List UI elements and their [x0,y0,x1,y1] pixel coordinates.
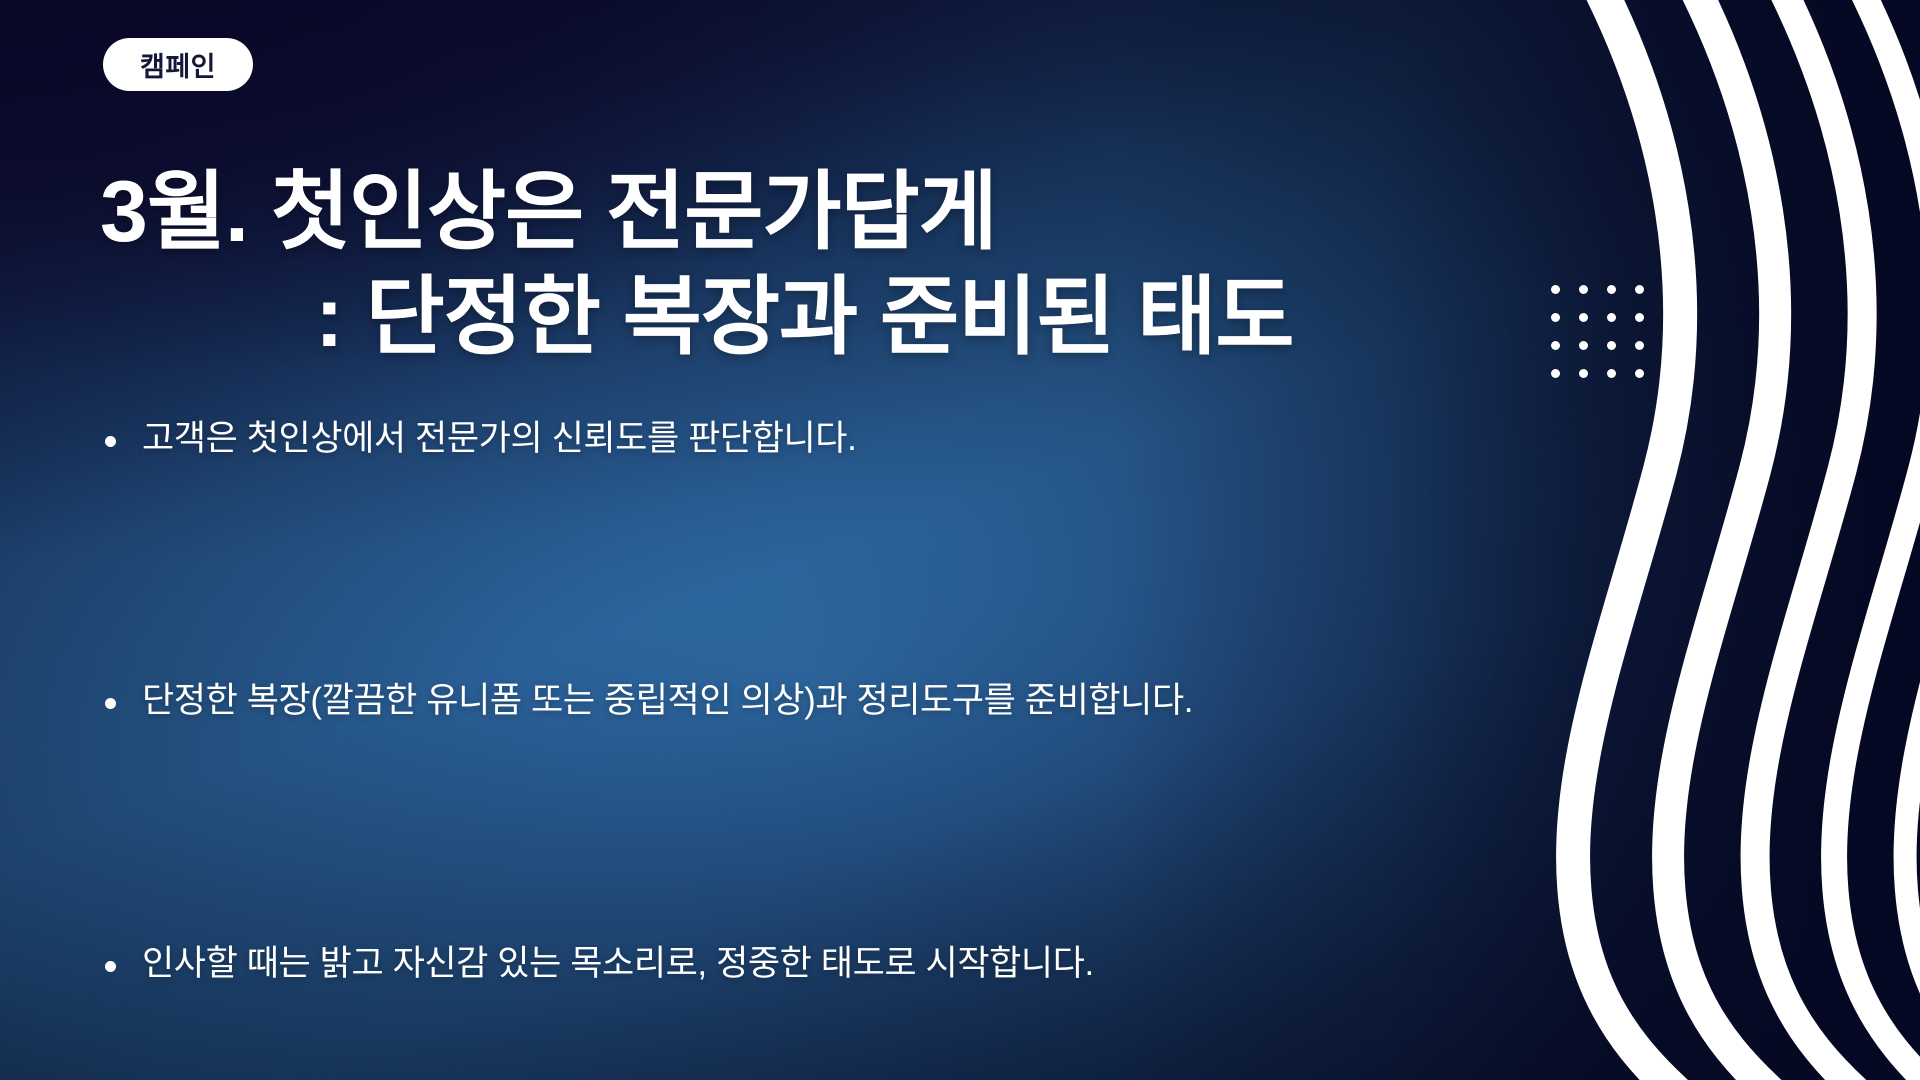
bullet-text: 고객은 첫인상에서 전문가의 신뢰도를 판단합니다. [142,415,1485,462]
list-item: 인사할 때는 밝고 자신감 있는 목소리로, 정중한 태도로 시작합니다. [105,940,1485,987]
grid-dot [1551,313,1560,322]
grid-dot [1635,285,1644,294]
grid-dot [1551,341,1560,350]
grid-dot [1607,369,1616,378]
slide-content: 캠페인 3월. 첫인상은 전문가답게 : 단정한 복장과 준비된 태도 고객은 … [0,0,1520,1080]
campaign-slide: 캠페인 3월. 첫인상은 전문가답게 : 단정한 복장과 준비된 태도 고객은 … [0,0,1920,1080]
bullet-text: 인사할 때는 밝고 자신감 있는 목소리로, 정중한 태도로 시작합니다. [142,940,1485,987]
page-title: 3월. 첫인상은 전문가답게 : 단정한 복장과 준비된 태도 [100,160,1500,370]
list-item: 단정한 복장(깔끔한 유니폼 또는 중립적인 의상)과 정리도구를 준비합니다. [105,677,1485,724]
grid-dot [1635,341,1644,350]
bullet-dot-icon [105,436,116,447]
bullet-text: 단정한 복장(깔끔한 유니폼 또는 중립적인 의상)과 정리도구를 준비합니다. [142,677,1485,724]
grid-dot [1579,285,1588,294]
title-line-1: 3월. 첫인상은 전문가답게 [100,164,997,260]
category-badge: 캠페인 [103,38,253,91]
grid-dot [1551,285,1560,294]
grid-dot [1579,341,1588,350]
grid-dot [1579,313,1588,322]
grid-dot [1551,369,1560,378]
grid-dot [1607,285,1616,294]
bullet-dot-icon [105,961,116,972]
dot-grid-decoration [1551,285,1663,397]
grid-dot [1607,341,1616,350]
grid-dot [1607,313,1616,322]
grid-dot [1635,313,1644,322]
grid-dot [1579,369,1588,378]
list-item: 고객은 첫인상에서 전문가의 신뢰도를 판단합니다. [105,415,1485,462]
bullet-dot-icon [105,698,116,709]
title-line-2: : 단정한 복장과 준비된 태도 [100,265,1500,370]
grid-dot [1635,369,1644,378]
bullet-list: 고객은 첫인상에서 전문가의 신뢰도를 판단합니다. 단정한 복장(깔끔한 유니… [105,415,1485,987]
